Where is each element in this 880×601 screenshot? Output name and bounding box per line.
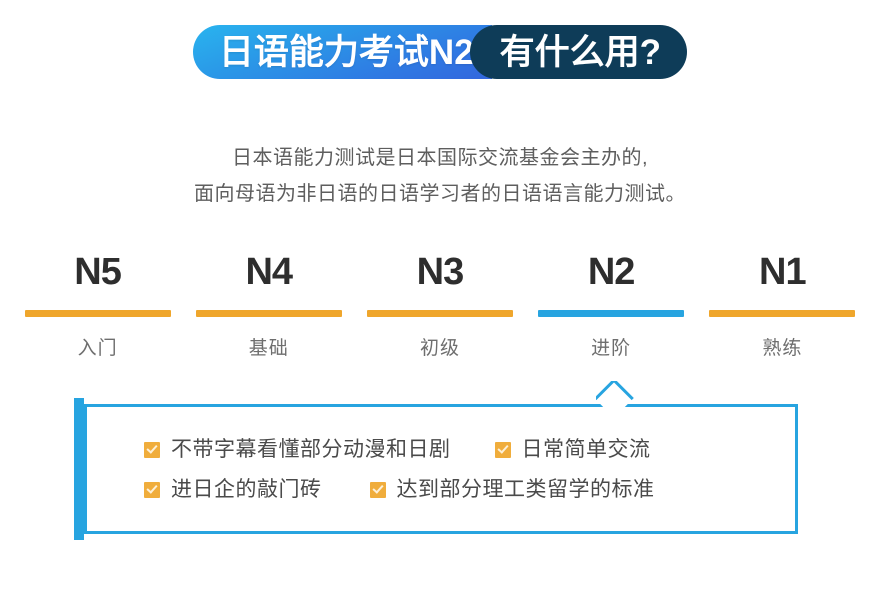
callout-item-label: 进日企的敲门砖 xyxy=(171,476,322,504)
level-label: 熟练 xyxy=(762,337,802,361)
callout-item: 不带字幕看懂部分动漫和日剧 xyxy=(144,436,451,464)
title-pill-secondary: 有什么用? xyxy=(470,25,687,79)
level-code: N4 xyxy=(245,250,292,294)
description-line-1: 日本语能力测试是日本国际交流基金会主办的, xyxy=(0,140,880,176)
callout-item-label: 不带字幕看懂部分动漫和日剧 xyxy=(171,436,451,464)
title-pill-group: 日语能力考试N2 有什么用? xyxy=(193,25,687,79)
level-item-n2: N2 进阶 xyxy=(526,250,697,361)
check-icon xyxy=(370,482,386,498)
level-code: N1 xyxy=(759,250,806,294)
level-item-n4: N4 基础 xyxy=(183,250,354,361)
callout-row: 不带字幕看懂部分动漫和日剧 日常简单交流 xyxy=(84,430,798,470)
callout-item-label: 达到部分理工类留学的标准 xyxy=(397,476,655,504)
level-label: 初级 xyxy=(420,337,460,361)
level-label: 入门 xyxy=(78,337,118,361)
callout-item: 进日企的敲门砖 xyxy=(144,476,322,504)
level-bar-highlighted xyxy=(538,310,684,317)
check-icon xyxy=(495,442,511,458)
check-icon xyxy=(144,442,160,458)
level-label: 基础 xyxy=(249,337,289,361)
level-item-n3: N3 初级 xyxy=(354,250,525,361)
callout-item: 达到部分理工类留学的标准 xyxy=(370,476,655,504)
check-icon xyxy=(144,482,160,498)
callout-item-label: 日常简单交流 xyxy=(522,436,651,464)
callout-item: 日常简单交流 xyxy=(495,436,651,464)
level-code: N2 xyxy=(588,250,635,294)
title-banner: 日语能力考试N2 有什么用? xyxy=(0,24,880,80)
description-line-2: 面向母语为非日语的日语学习者的日语语言能力测试。 xyxy=(0,176,880,212)
callout-accent-bar xyxy=(74,398,84,540)
level-bar xyxy=(367,310,513,317)
level-item-n1: N1 熟练 xyxy=(697,250,868,361)
callout-content: 不带字幕看懂部分动漫和日剧 日常简单交流 进日企的敲门砖 达到部分理工类留学的标… xyxy=(84,404,798,534)
level-scale: N5 入门 N4 基础 N3 初级 N2 进阶 N1 熟练 xyxy=(12,250,868,361)
level-label: 进阶 xyxy=(591,337,631,361)
level-bar xyxy=(196,310,342,317)
level-code: N3 xyxy=(417,250,464,294)
title-primary-text: 日语能力考试N2 xyxy=(219,35,474,70)
description-block: 日本语能力测试是日本国际交流基金会主办的, 面向母语为非日语的日语学习者的日语语… xyxy=(0,140,880,212)
title-secondary-text: 有什么用? xyxy=(500,35,661,70)
level-code: N5 xyxy=(74,250,121,294)
callout-row: 进日企的敲门砖 达到部分理工类留学的标准 xyxy=(84,470,798,510)
level-bar xyxy=(25,310,171,317)
title-pill-primary: 日语能力考试N2 xyxy=(193,25,492,79)
level-bar xyxy=(709,310,855,317)
level-item-n5: N5 入门 xyxy=(12,250,183,361)
